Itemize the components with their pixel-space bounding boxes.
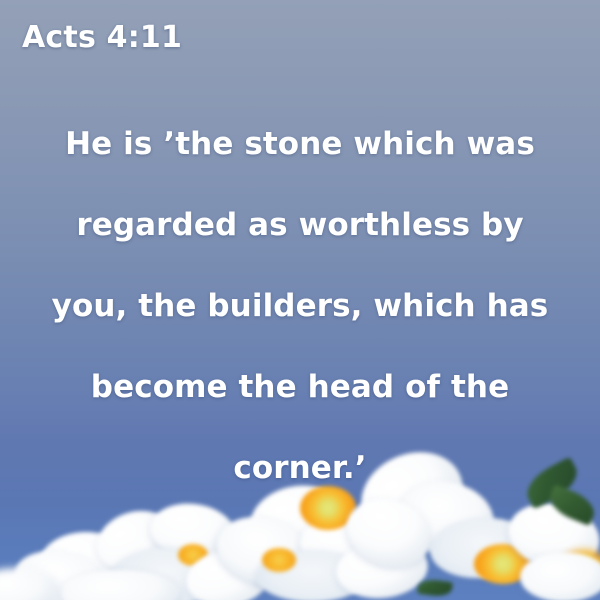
verse-line: He is ’the stone which was [0,104,600,185]
verse-image: Acts 4:11 He is ’the stone which was reg… [0,0,600,600]
verse-line: regarded as worthless by [0,185,600,266]
verse-line: corner.’ [0,428,600,509]
leaf-center-bottom [417,578,453,599]
verse-text-block: He is ’the stone which was regarded as w… [0,104,600,509]
verse-line: become the head of the [0,347,600,428]
verse-line: you, the builders, which has [0,266,600,347]
verse-reference: Acts 4:11 [22,20,182,56]
